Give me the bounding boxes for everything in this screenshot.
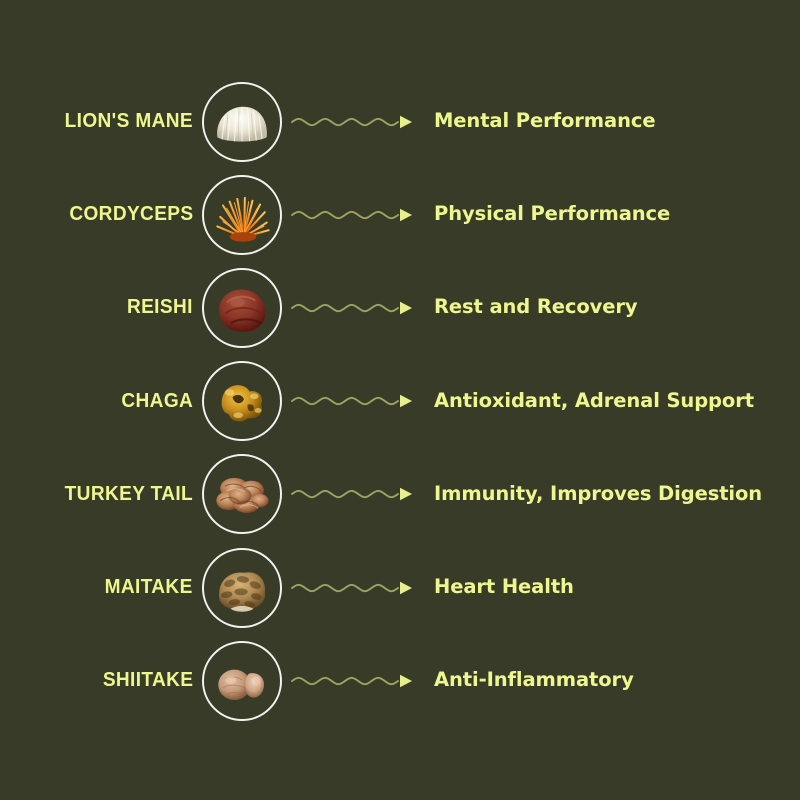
chaga-art [204, 363, 280, 439]
benefit-row: TURKEY TAIL Immunity, Improves [0, 448, 800, 541]
benefit-row: REISHI Rest and Recovery [0, 261, 800, 354]
turkey-tail-art [204, 456, 280, 532]
cordyceps-art [204, 177, 280, 253]
lions-mane-art [204, 84, 280, 160]
benefit-row: MAITAKE Heart Health [0, 541, 800, 634]
mushroom-thumbnail [202, 641, 282, 721]
benefit-label: Immunity, Improves Digestion [434, 482, 762, 505]
benefit-label: Heart Health [434, 575, 574, 598]
squiggly-arrow-icon [290, 109, 414, 135]
squiggly-arrow-icon [290, 295, 414, 321]
mushroom-thumbnail-cell [193, 82, 290, 162]
mushroom-thumbnail-cell [193, 361, 290, 441]
connector-cell [290, 575, 423, 601]
mushroom-name-cell: CORDYCEPS [0, 204, 193, 225]
connector-cell [290, 668, 423, 694]
mushroom-name: TURKEY TAIL [65, 484, 193, 505]
benefit-row: LION'S MANE Mental Performance [0, 75, 800, 168]
mushroom-name-cell: LION'S MANE [0, 111, 193, 132]
benefit-cell: Physical Performance [423, 204, 800, 225]
benefit-row: CORDYCEPS Physical Performance [0, 168, 800, 261]
benefit-row: CHAGA Antioxidant, Adrenal Support [0, 355, 800, 448]
shiitake-art [204, 643, 280, 719]
mushroom-thumbnail-cell [193, 548, 290, 628]
benefit-cell: Mental Performance [423, 111, 800, 132]
mushroom-thumbnail-cell [193, 268, 290, 348]
benefit-label: Anti-Inflammatory [434, 668, 634, 691]
mushroom-name-cell: TURKEY TAIL [0, 484, 193, 505]
benefit-cell: Immunity, Improves Digestion [423, 484, 800, 505]
connector-cell [290, 295, 423, 321]
benefit-cell: Rest and Recovery [423, 297, 800, 318]
mushroom-thumbnail-cell [193, 641, 290, 721]
mushroom-name-cell: CHAGA [0, 391, 193, 412]
mushroom-thumbnail [202, 361, 282, 441]
benefit-row-list: LION'S MANE Mental PerformanceCORDYCEPS [0, 75, 800, 727]
mushroom-thumbnail [202, 268, 282, 348]
benefit-label: Physical Performance [434, 202, 670, 225]
mushroom-thumbnail-cell [193, 175, 290, 255]
mushroom-name: REISHI [127, 297, 193, 318]
squiggly-arrow-icon [290, 668, 414, 694]
squiggly-arrow-icon [290, 481, 414, 507]
benefit-cell: Heart Health [423, 577, 800, 598]
benefit-label: Antioxidant, Adrenal Support [434, 389, 754, 412]
mushroom-thumbnail [202, 82, 282, 162]
benefit-cell: Antioxidant, Adrenal Support [423, 391, 800, 412]
mushroom-thumbnail [202, 548, 282, 628]
mushroom-thumbnail [202, 454, 282, 534]
squiggly-arrow-icon [290, 575, 414, 601]
connector-cell [290, 202, 423, 228]
mushroom-name: CHAGA [121, 391, 193, 412]
reishi-art [204, 270, 280, 346]
mushroom-benefits-infographic: LION'S MANE Mental PerformanceCORDYCEPS [0, 0, 800, 800]
mushroom-name: CORDYCEPS [69, 204, 193, 225]
benefit-row: SHIITAKE Anti [0, 634, 800, 727]
benefit-label: Mental Performance [434, 109, 655, 132]
mushroom-name-cell: MAITAKE [0, 577, 193, 598]
connector-cell [290, 388, 423, 414]
mushroom-thumbnail-cell [193, 454, 290, 534]
benefit-label: Rest and Recovery [434, 295, 638, 318]
maitake-art [204, 550, 280, 626]
squiggly-arrow-icon [290, 388, 414, 414]
mushroom-name: LION'S MANE [65, 111, 193, 132]
connector-cell [290, 109, 423, 135]
mushroom-name: SHIITAKE [102, 670, 193, 691]
connector-cell [290, 481, 423, 507]
mushroom-thumbnail [202, 175, 282, 255]
mushroom-name: MAITAKE [105, 577, 193, 598]
squiggly-arrow-icon [290, 202, 414, 228]
mushroom-name-cell: SHIITAKE [0, 670, 193, 691]
mushroom-name-cell: REISHI [0, 297, 193, 318]
benefit-cell: Anti-Inflammatory [423, 670, 800, 691]
